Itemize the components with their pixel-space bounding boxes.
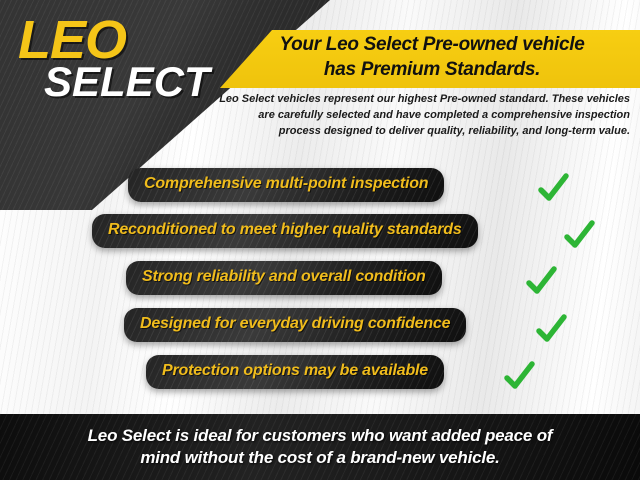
footer-text: Leo Select is ideal for customers who wa… (20, 425, 620, 470)
check-icon (524, 264, 558, 298)
feature-pill: Designed for everyday driving confidence (124, 308, 466, 342)
check-icon (502, 359, 536, 393)
headline-line-1: Your Leo Select Pre-owned vehicle (232, 32, 632, 57)
feature-label: Designed for everyday driving confidence (140, 315, 450, 332)
footer-line-2: mind without the cost of a brand-new veh… (20, 447, 620, 469)
headline-text: Your Leo Select Pre-owned vehicle has Pr… (232, 32, 632, 82)
brand-logo: LEO SELECT (18, 16, 210, 102)
feature-label: Protection options may be available (162, 362, 428, 379)
leo-select-poster: LEO SELECT Your Leo Select Pre-owned veh… (0, 0, 640, 480)
feature-pill: Comprehensive multi-point inspection (128, 168, 444, 202)
logo-text-select: SELECT (44, 62, 210, 102)
feature-label: Reconditioned to meet higher quality sta… (108, 221, 462, 238)
feature-pill: Protection options may be available (146, 355, 444, 389)
feature-label: Comprehensive multi-point inspection (144, 175, 428, 192)
footer-bar: Leo Select is ideal for customers who wa… (0, 414, 640, 480)
feature-label: Strong reliability and overall condition (142, 268, 426, 285)
check-icon (534, 312, 568, 346)
headline-line-2: has Premium Standards. (232, 57, 632, 82)
check-icon (536, 171, 570, 205)
footer-line-1: Leo Select is ideal for customers who wa… (20, 425, 620, 447)
feature-pill: Strong reliability and overall condition (126, 261, 442, 295)
feature-pill: Reconditioned to meet higher quality sta… (92, 214, 478, 248)
check-icon (562, 218, 596, 252)
description-paragraph: Leo Select vehicles represent our highes… (218, 92, 630, 140)
